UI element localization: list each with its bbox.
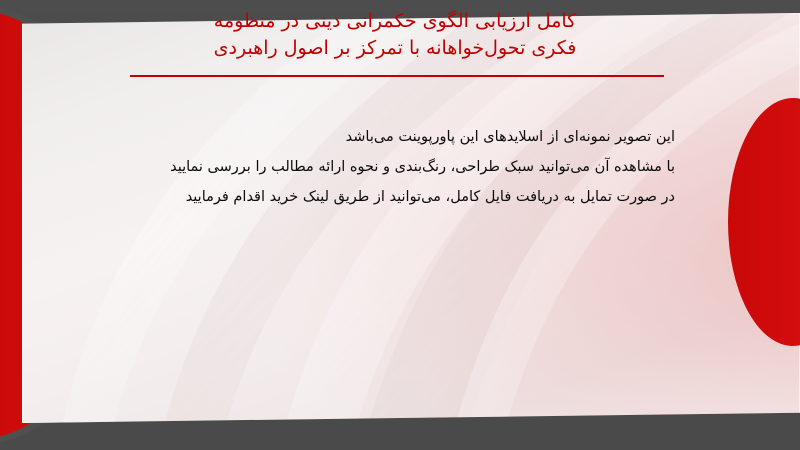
slide-body-line-3: در صورت تمایل به دریافت فایل کامل، می‌تو…: [130, 182, 675, 212]
slide-title: کامل ارزیابی الگوی حکمرانی دینی در منظوم…: [120, 8, 670, 62]
slide-body-line-1: این تصویر نمونه‌ای از اسلایدهای این پاور…: [130, 122, 675, 152]
title-underline-rule: [130, 75, 664, 77]
slide-title-line-2: فکری تحول‌خواهانه با تمرکز بر اصول راهبر…: [120, 35, 670, 62]
slide-body-line-2: با مشاهده آن می‌توانید سبک طراحی، رنگ‌بن…: [130, 152, 675, 182]
slide-title-line-1: کامل ارزیابی الگوی حکمرانی دینی در منظوم…: [120, 8, 670, 35]
slide-body: این تصویر نمونه‌ای از اسلایدهای این پاور…: [130, 122, 675, 212]
slide-text-content: کامل ارزیابی الگوی حکمرانی دینی در منظوم…: [0, 0, 800, 450]
slide-canvas: کامل ارزیابی الگوی حکمرانی دینی در منظوم…: [0, 0, 800, 450]
